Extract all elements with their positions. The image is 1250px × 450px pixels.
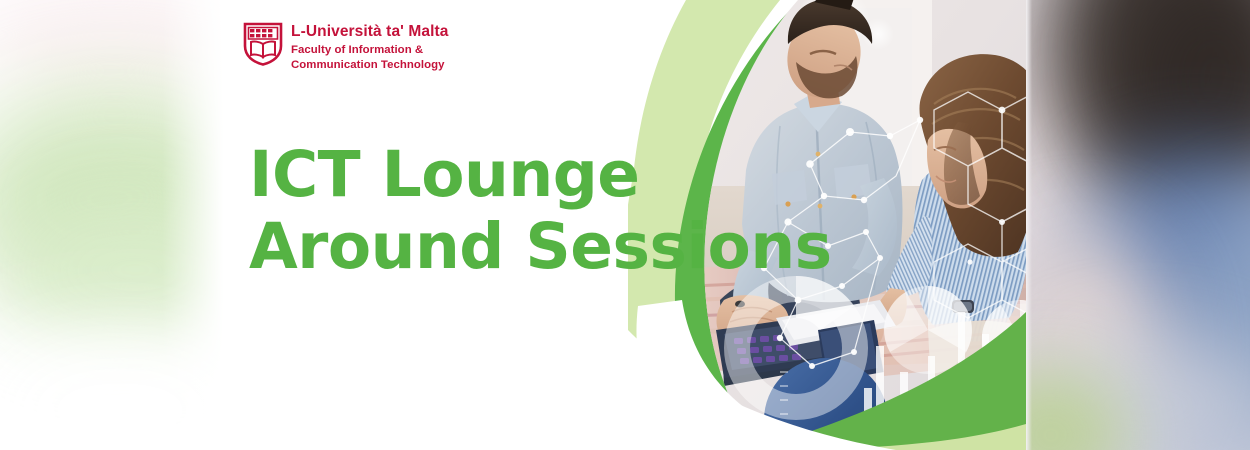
page-title-line-1: ICT Lounge (249, 143, 832, 207)
logo-faculty-line-2: Communication Technology (291, 58, 448, 72)
logo-faculty-line-1: Faculty of Information & (291, 43, 448, 57)
left-blurred-edge (0, 0, 232, 450)
page-title: ICT Lounge Around Sessions (249, 143, 832, 280)
left-blur-fade (162, 0, 232, 450)
university-logo[interactable]: L-Università ta' Malta Faculty of Inform… (243, 22, 448, 72)
logo-university-name: L-Università ta' Malta (291, 23, 448, 41)
um-shield-crest-icon (243, 22, 283, 66)
ict-lounge-banner: L-Università ta' Malta Faculty of Inform… (0, 0, 1250, 450)
page-title-line-2: Around Sessions (249, 215, 832, 279)
logo-text-block: L-Università ta' Malta Faculty of Inform… (291, 22, 448, 72)
right-blur-seam (1026, 0, 1032, 450)
right-blurred-edge (1026, 0, 1250, 450)
